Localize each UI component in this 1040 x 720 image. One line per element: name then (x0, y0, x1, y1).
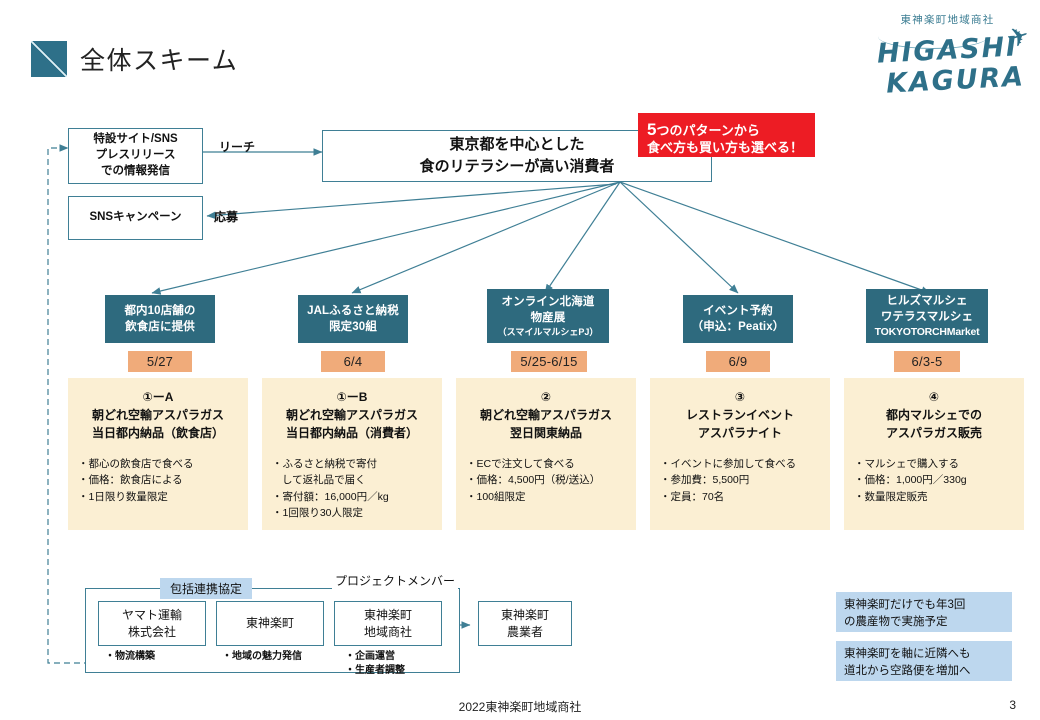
card-1-bullets: ・都心の飲食店で食べる ・価格：飲食店による ・1日限り数量限定 (78, 456, 238, 505)
member-box-town[interactable]: 東神楽町 (216, 601, 324, 646)
member-shosha-line2: 地域商社 (364, 624, 412, 641)
list-item: ・100組限定 (466, 489, 626, 505)
list-item: ・イベントに参加して食べる (660, 456, 820, 472)
promo-banner: 5つのパターンから 食べ方も買い方も選べる！ (638, 113, 815, 157)
edge-label-reach: リーチ (219, 138, 255, 155)
channel-1-line1: 都内10店舗の (124, 303, 195, 319)
list-item: ・都心の飲食店で食べる (78, 456, 238, 472)
channel-3-subtext: （スマイルマルシェPJ） (498, 326, 599, 338)
note-2-line1: 東神楽町を軸に近隣へも (844, 646, 1004, 663)
card-2-title-line2: 当日都内納品（消費者） (272, 424, 432, 442)
channel-box-4[interactable]: イベント予約 （申込：Peatix） (683, 295, 793, 343)
card-5-bullet-2: ・価格：1,000円／330g (854, 474, 967, 486)
card-2-number: ①ーB (272, 388, 432, 406)
card-5-bullet-1: ・マルシェで購入する (854, 458, 959, 470)
member-box-yamato[interactable]: ヤマト運輸 株式会社 (98, 601, 206, 646)
company-logo: ✈ 東神楽町地域商社 HIGASHI KAGURA (860, 8, 1035, 106)
box-owned-media-line1: 特設サイト/SNS (93, 132, 177, 148)
channel-4-line2: （申込：Peatix） (692, 319, 785, 335)
page-number: 3 (1009, 698, 1016, 712)
channel-5-date: 6/3-5 (894, 351, 960, 372)
channel-box-2[interactable]: JALふるさと納税 限定30組 (298, 295, 408, 343)
channel-4-date: 6/9 (706, 351, 770, 372)
channel-4-line1: イベント予約 (703, 303, 773, 319)
card-2-bullet-3: ・1回限り30人限定 (272, 507, 363, 519)
card-3-bullet-1: ・ECで注文して食べる (466, 458, 575, 470)
member-yamato-line1: ヤマト運輸 (122, 607, 182, 624)
list-item: ・参加費：5,500円 (660, 472, 820, 488)
card-3-number: ② (466, 388, 626, 406)
member-shosha-note-2: ・生産者調整 (345, 664, 405, 679)
list-item: ・定員：70名 (660, 489, 820, 505)
box-owned-media-line2: プレスリリース (96, 148, 176, 164)
channel-3-line1: オンライン北海道 (502, 294, 595, 310)
channel-5-line2: ワテラスマルシェ (881, 309, 973, 325)
channel-2-date: 6/4 (321, 351, 385, 372)
note-box-1: 東神楽町だけでも年3回 の農産物で実施予定 (836, 592, 1012, 632)
channel-5-line3: TOKYOTORCHMarket (875, 325, 980, 339)
list-item: ・価格：1,000円／330g (854, 472, 1014, 488)
channel-box-1[interactable]: 都内10店舗の 飲食店に提供 (105, 295, 215, 343)
channel-3-date: 5/25-6/15 (511, 351, 587, 372)
card-4-title-line2: アスパラナイト (660, 424, 820, 442)
card-1-title-line2: 当日都内納品（飲食店） (78, 424, 238, 442)
card-5-number: ④ (854, 388, 1014, 406)
card-5-bullets: ・マルシェで購入する ・価格：1,000円／330g ・数量限定販売 (854, 456, 1014, 505)
member-town-line1: 東神楽町 (246, 615, 294, 632)
card-4-bullets: ・イベントに参加して食べる ・参加費：5,500円 ・定員：70名 (660, 456, 820, 505)
box-sns-campaign-label: SNSキャンペーン (89, 210, 181, 226)
promo-line1: 5つのパターンから (647, 119, 807, 140)
box-sns-campaign[interactable]: SNSキャンペーン (68, 196, 203, 240)
card-1-bullet-2: ・価格：飲食店による (78, 474, 183, 486)
channel-box-5[interactable]: ヒルズマルシェ ワテラスマルシェ TOKYOTORCHMarket (866, 289, 988, 343)
member-yamato-note: ・物流構築 (105, 650, 155, 665)
list-item: ・ECで注文して食べる (466, 456, 626, 472)
card-2-bullet-2: ・寄付額：16,000円／kg (272, 491, 389, 503)
page-title: 全体スキーム (80, 41, 238, 77)
edge-label-apply: 応募 (214, 208, 238, 225)
footer-text: 2022東神楽町地域商社 (0, 698, 1040, 715)
card-2-bullet-1-cont: して返礼品で届く (272, 472, 432, 488)
consumer-line1: 東京都を中心とした (449, 134, 584, 156)
detail-card-3[interactable]: ② 朝どれ空輸アスパラガス 翌日関東納品 ・ECで注文して食べる ・価格：4,5… (456, 378, 636, 530)
note-box-2: 東神楽町を軸に近隣へも 道北から空路便を増加へ (836, 641, 1012, 681)
channel-5-line1: ヒルズマルシェ (886, 293, 967, 309)
card-5-title-line2: アスパラガス販売 (854, 424, 1014, 442)
list-item: ・ふるさと納税で寄付 して返礼品で届く (272, 456, 432, 489)
promo-line1-rest: つのパターンから (656, 123, 759, 138)
card-1-title-line1: 朝どれ空輸アスパラガス (78, 406, 238, 424)
agreement-badge: 包括連携協定 (160, 578, 252, 599)
channel-box-3[interactable]: オンライン北海道 物産展 （スマイルマルシェPJ） (487, 289, 609, 343)
project-member-label: プロジェクトメンバー (332, 572, 458, 589)
detail-card-4[interactable]: ③ レストランイベント アスパラナイト ・イベントに参加して食べる ・参加費：5… (650, 378, 830, 530)
promo-line2: 食べ方も買い方も選べる！ (647, 140, 807, 156)
card-2-bullets: ・ふるさと納税で寄付 して返礼品で届く ・寄付額：16,000円／kg ・1回限… (272, 456, 432, 521)
member-box-shosha[interactable]: 東神楽町 地域商社 (334, 601, 442, 646)
list-item: ・数量限定販売 (854, 489, 1014, 505)
note-1-line1: 東神楽町だけでも年3回 (844, 597, 1004, 614)
farmers-line1: 東神楽町 (501, 607, 549, 624)
list-item: ・1日限り数量限定 (78, 489, 238, 505)
card-3-title-line2: 翌日関東納品 (466, 424, 626, 442)
logo-jp-text: 東神楽町地域商社 (860, 12, 1035, 27)
channel-1-line2: 飲食店に提供 (125, 319, 195, 335)
note-1-line2: の農産物で実施予定 (844, 614, 1004, 631)
detail-card-2[interactable]: ①ーB 朝どれ空輸アスパラガス 当日都内納品（消費者） ・ふるさと納税で寄付 し… (262, 378, 442, 530)
consumer-line2: 食のリテラシーが高い消費者 (420, 156, 615, 178)
card-5-title-line1: 都内マルシェでの (854, 406, 1014, 424)
card-1-bullet-1: ・都心の飲食店で食べる (78, 458, 194, 470)
member-town-note: ・地域の魅力発信 (222, 650, 302, 665)
card-2-bullet-1: ・ふるさと納税で寄付 (272, 458, 377, 470)
list-item: ・1回限り30人限定 (272, 505, 432, 521)
member-shosha-note-1: ・企画運営 (345, 650, 395, 665)
detail-card-1[interactable]: ①ーA 朝どれ空輸アスパラガス 当日都内納品（飲食店） ・都心の飲食店で食べる … (68, 378, 248, 530)
member-shosha-line1: 東神楽町 (364, 607, 412, 624)
card-4-bullet-2: ・参加費：5,500円 (660, 474, 749, 486)
card-4-bullet-3: ・定員：70名 (660, 491, 724, 503)
card-3-title-line1: 朝どれ空輸アスパラガス (466, 406, 626, 424)
list-item: ・価格：飲食店による (78, 472, 238, 488)
box-farmers[interactable]: 東神楽町 農業者 (478, 601, 572, 646)
card-1-number: ①ーA (78, 388, 238, 406)
note-2-line2: 道北から空路便を増加へ (844, 663, 1004, 680)
card-3-bullet-3: ・100組限定 (466, 491, 526, 503)
title-accent-icon (31, 41, 67, 77)
detail-card-5[interactable]: ④ 都内マルシェでの アスパラガス販売 ・マルシェで購入する ・価格：1,000… (844, 378, 1024, 530)
card-3-bullets: ・ECで注文して食べる ・価格：4,500円（税/送込） ・100組限定 (466, 456, 626, 505)
channel-1-date: 5/27 (128, 351, 192, 372)
card-4-number: ③ (660, 388, 820, 406)
box-owned-media-line3: での情報発信 (101, 164, 170, 180)
card-2-title-line1: 朝どれ空輸アスパラガス (272, 406, 432, 424)
card-4-bullet-1: ・イベントに参加して食べる (660, 458, 796, 470)
card-3-bullet-2: ・価格：4,500円（税/送込） (466, 474, 600, 486)
list-item: ・価格：4,500円（税/送込） (466, 472, 626, 488)
card-5-bullet-3: ・数量限定販売 (854, 491, 928, 503)
card-4-title-line1: レストランイベント (660, 406, 820, 424)
channel-2-line2: 限定30組 (329, 319, 377, 335)
card-1-bullet-3: ・1日限り数量限定 (78, 491, 168, 503)
channel-3-line2: 物産展 (531, 310, 566, 326)
list-item: ・マルシェで購入する (854, 456, 1014, 472)
farmers-line2: 農業者 (507, 624, 543, 641)
list-item: ・寄付額：16,000円／kg (272, 489, 432, 505)
box-owned-media[interactable]: 特設サイト/SNS プレスリリース での情報発信 (68, 128, 203, 184)
channel-2-line1: JALふるさと納税 (307, 303, 399, 319)
member-yamato-line2: 株式会社 (128, 624, 176, 641)
slide-canvas: 全体スキーム ✈ 東神楽町地域商社 HIGASHI KAGURA 特設サイト/S… (0, 0, 1040, 720)
